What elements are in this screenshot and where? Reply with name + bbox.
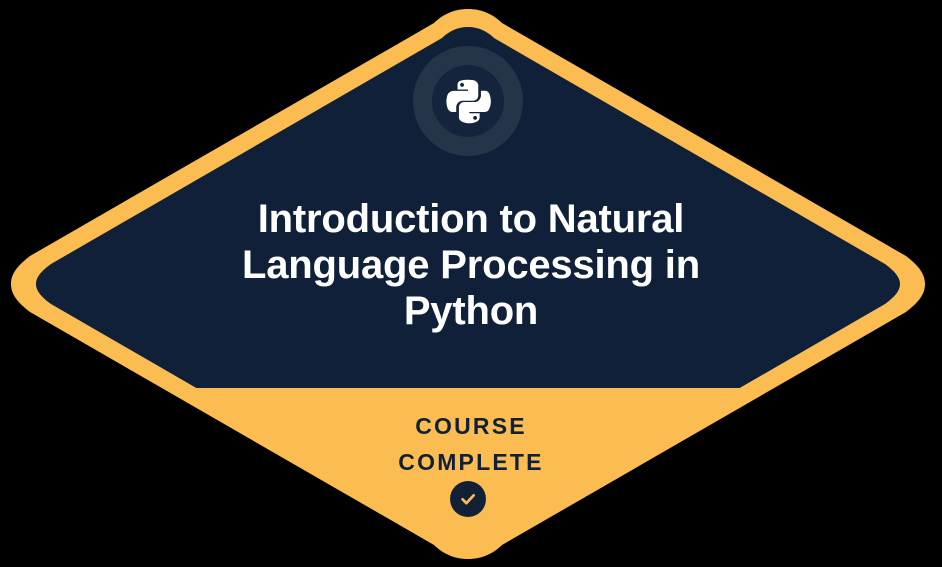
python-logo-icon [444,77,492,125]
course-completion-badge: Introduction to Natural Language Process… [0,0,942,567]
check-circle-icon [450,481,486,517]
checkmark-glyph [458,489,478,509]
platform-emblem [408,41,528,161]
completion-status-label: COURSE COMPLETE [221,408,721,480]
course-title: Introduction to Natural Language Process… [171,196,771,334]
